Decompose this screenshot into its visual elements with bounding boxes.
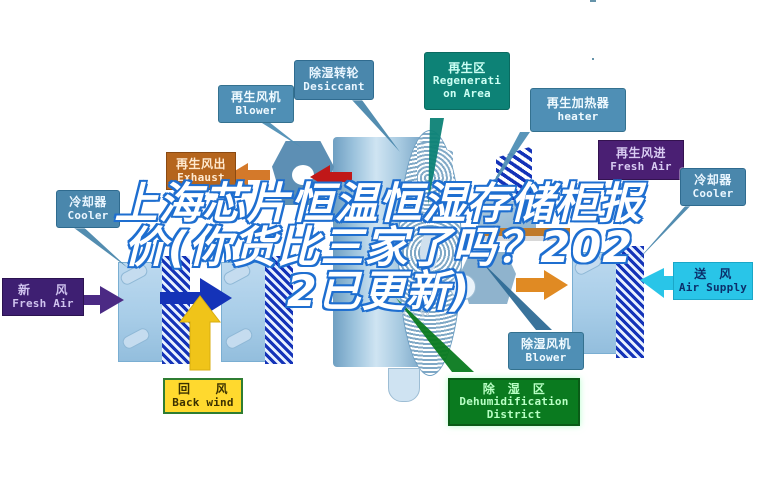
label-desiccant-rotor[interactable]: 除湿转轮 Desiccant — [294, 60, 374, 100]
label-cooler-right[interactable]: 冷却器 Cooler — [680, 168, 746, 206]
label-regeneration-air-inlet-en: Fresh Air — [610, 161, 671, 173]
label-dehumidification-district-en: Dehumidification District — [459, 396, 568, 421]
label-heater-cn: 再生加热器 — [547, 97, 610, 110]
label-fresh-air-en: Fresh Air — [12, 298, 73, 310]
leader-cooler-left — [66, 222, 128, 268]
label-cooler-left[interactable]: 冷却器 Cooler — [56, 190, 120, 228]
label-regeneration-area[interactable]: 再生区 Regenerati on Area — [424, 52, 510, 110]
label-fresh-air-cn: 新 风 — [18, 284, 68, 297]
label-regeneration-area-en: Regenerati on Area — [433, 75, 501, 100]
label-fresh-air[interactable]: 新 风 Fresh Air — [2, 278, 84, 316]
diagram-canvas: XTW — [0, 0, 757, 488]
label-heater-callout[interactable] — [590, 0, 592, 2]
label-regeneration-area-cn: 再生区 — [448, 62, 486, 75]
label-exhaust[interactable]: 再生风出 Exhaust — [166, 152, 236, 190]
leader-line-layer — [0, 0, 757, 488]
leader-dehum-district — [396, 298, 474, 372]
label-heater[interactable] — [592, 58, 594, 60]
label-exhaust-en: Exhaust — [177, 172, 225, 184]
label-dehumidification-district-cn: 除 湿 区 — [483, 383, 546, 396]
label-back-wind[interactable]: 回 风 Back wind — [163, 378, 243, 414]
label-dehumidification-district[interactable]: 除 湿 区 Dehumidification District — [448, 378, 580, 426]
leader-dehum-blower — [482, 262, 552, 330]
label-heater-en: heater — [558, 111, 599, 123]
label-air-supply-cn: 送 风 — [694, 268, 732, 281]
label-dehumidification-blower-cn: 除湿风机 — [521, 338, 571, 351]
label-air-supply-en: Air Supply — [679, 282, 747, 294]
label-regeneration-blower[interactable]: 再生风机 Blower — [218, 85, 294, 123]
label-desiccant-rotor-cn: 除湿转轮 — [309, 67, 359, 80]
label-back-wind-en: Back wind — [172, 397, 233, 409]
label-exhaust-cn: 再生风出 — [176, 158, 226, 171]
label-regeneration-air-inlet-cn: 再生风进 — [616, 147, 666, 160]
label-cooler-right-en: Cooler — [693, 188, 734, 200]
label-back-wind-cn: 回 风 — [178, 383, 228, 396]
label-regeneration-blower-cn: 再生风机 — [231, 91, 281, 104]
label-dehumidification-blower[interactable]: 除湿风机 Blower — [508, 332, 584, 370]
leader-desiccant — [352, 100, 400, 152]
leader-regen-area — [428, 118, 444, 205]
label-regeneration-heater-box[interactable] — [594, 0, 596, 2]
label-heater-main[interactable]: 再生加热器 heater — [530, 88, 626, 132]
label-cooler-left-en: Cooler — [68, 210, 109, 222]
label-regeneration-blower-en: Blower — [236, 105, 277, 117]
label-cooler-right-cn: 冷却器 — [694, 174, 732, 187]
label-regeneration-air-inlet[interactable]: 再生风进 Fresh Air — [598, 140, 684, 180]
leader-heater — [486, 132, 530, 196]
label-dehumidification-blower-en: Blower — [526, 352, 567, 364]
label-desiccant-rotor-en: Desiccant — [303, 81, 364, 93]
label-air-supply[interactable]: 送 风 Air Supply — [673, 262, 753, 300]
label-cooler-left-cn: 冷却器 — [69, 196, 107, 209]
